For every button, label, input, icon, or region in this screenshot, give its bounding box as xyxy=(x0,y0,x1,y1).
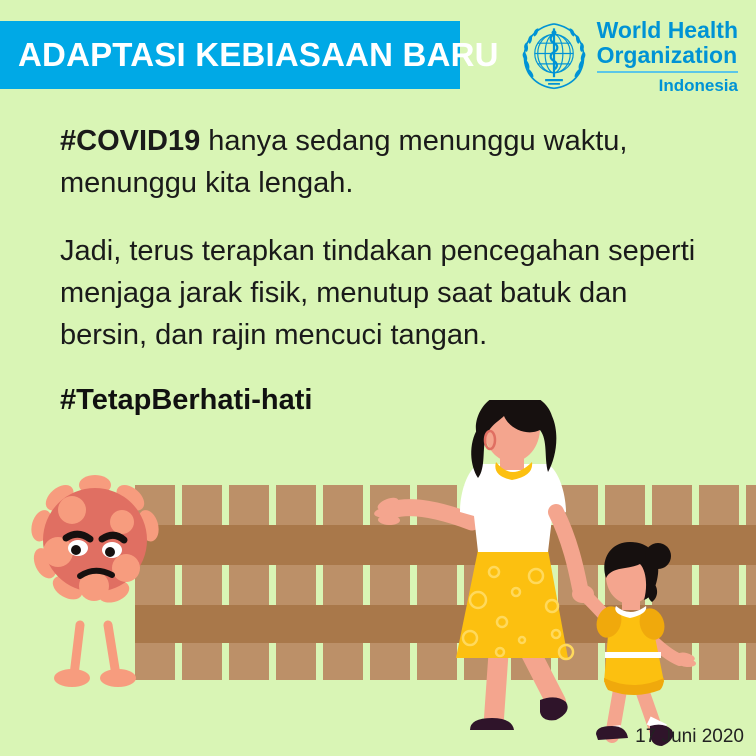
who-logo: World Health Organization Indonesia xyxy=(517,18,738,95)
body-copy: #COVID19 hanya sedang menunggu waktu, me… xyxy=(60,120,720,417)
who-name-line-2: Organization xyxy=(597,43,738,68)
date-stamp: 17 Juni 2020 xyxy=(635,726,744,748)
who-name-line-1: World Health xyxy=(597,18,738,43)
page-title: ADAPTASI KEBIASAAN BARU xyxy=(0,36,499,74)
illustration-scene xyxy=(0,400,756,756)
poster-canvas: ADAPTASI KEBIASAAN BARU xyxy=(0,0,756,756)
paragraph-1: #COVID19 hanya sedang menunggu waktu, me… xyxy=(60,120,720,204)
who-divider xyxy=(597,71,738,73)
header-banner: ADAPTASI KEBIASAAN BARU xyxy=(0,21,460,89)
who-wordmark: World Health Organization Indonesia xyxy=(597,18,738,95)
who-emblem-icon xyxy=(517,18,591,92)
paragraph-2: Jadi, terus terapkan tindakan pencegahan… xyxy=(60,230,720,356)
who-country-label: Indonesia xyxy=(597,76,738,95)
covid-hashtag: #COVID19 xyxy=(60,125,200,157)
